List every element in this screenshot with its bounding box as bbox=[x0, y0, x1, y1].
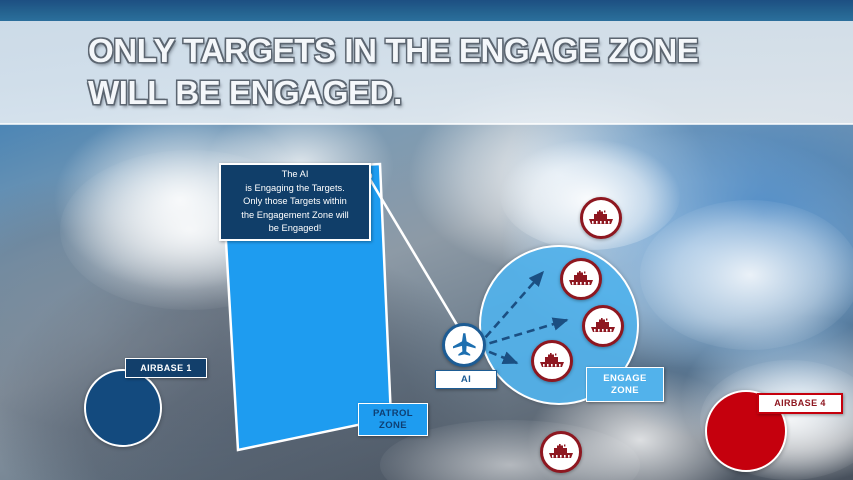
ai-status-callout: The AI is Engaging the Targets. Only tho… bbox=[219, 163, 371, 241]
target-marker-outside-south[interactable] bbox=[540, 431, 582, 473]
warship-icon bbox=[568, 271, 594, 287]
warship-icon bbox=[590, 318, 616, 334]
patrol-zone-label[interactable]: PATROL ZONE bbox=[358, 403, 428, 436]
callout-line-1: The AI bbox=[241, 168, 349, 182]
page-title-line-2: WILL BE ENGAGED. bbox=[88, 72, 788, 114]
callout-line-4: the Engagement Zone will bbox=[241, 209, 349, 223]
fighter-jet-icon bbox=[450, 332, 478, 358]
airbase-1-marker[interactable] bbox=[84, 369, 162, 447]
airbase-4-label-text: AIRBASE 4 bbox=[774, 398, 826, 409]
patrol-zone-label-line-2: ZONE bbox=[379, 420, 407, 431]
engage-zone-label[interactable]: ENGAGE ZONE bbox=[586, 367, 664, 402]
engage-zone-label-line-1: ENGAGE bbox=[603, 373, 647, 384]
target-marker-in-zone-right[interactable] bbox=[582, 305, 624, 347]
warship-icon bbox=[548, 444, 574, 460]
callout-line-5: be Engaged! bbox=[241, 222, 349, 236]
airbase-1-label[interactable]: AIRBASE 1 bbox=[125, 358, 207, 378]
airbase-1-label-text: AIRBASE 1 bbox=[140, 363, 192, 374]
ai-status-callout-text: The AI is Engaging the Targets. Only tho… bbox=[235, 168, 355, 236]
engage-zone-label-line-2: ZONE bbox=[611, 385, 639, 396]
target-marker-outside-north[interactable] bbox=[580, 197, 622, 239]
ai-label[interactable]: AI bbox=[435, 370, 497, 389]
patrol-zone-label-line-1: PATROL bbox=[373, 408, 413, 419]
ai-aircraft-marker[interactable] bbox=[442, 323, 486, 367]
warship-icon bbox=[539, 353, 565, 369]
page-title-line-1: ONLY TARGETS IN THE ENGAGE ZONE bbox=[88, 30, 788, 72]
top-accent-strip bbox=[0, 0, 853, 21]
target-marker-in-zone-bottom[interactable] bbox=[531, 340, 573, 382]
slide-canvas: ONLY TARGETS IN THE ENGAGE ZONE WILL BE … bbox=[0, 0, 853, 480]
ai-label-text: AI bbox=[461, 374, 471, 385]
airbase-4-label[interactable]: AIRBASE 4 bbox=[757, 393, 843, 414]
warship-icon bbox=[588, 210, 614, 226]
callout-line-2: is Engaging the Targets. bbox=[241, 182, 349, 196]
page-title: ONLY TARGETS IN THE ENGAGE ZONE WILL BE … bbox=[88, 30, 788, 114]
title-banner-divider bbox=[0, 123, 853, 125]
callout-line-3: Only those Targets within bbox=[241, 195, 349, 209]
target-marker-in-zone-top[interactable] bbox=[560, 258, 602, 300]
